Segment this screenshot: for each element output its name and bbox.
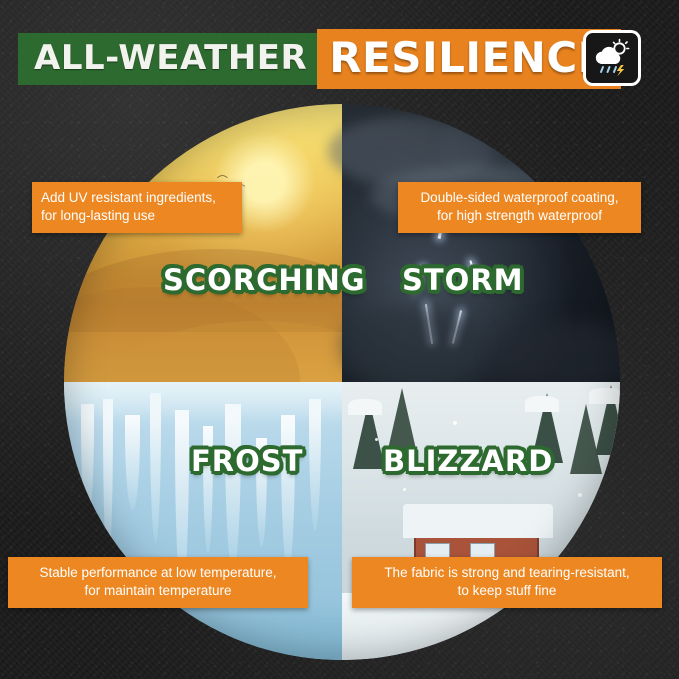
- callout-fabric: The fabric is strong and tearing-resista…: [352, 557, 662, 608]
- callout-uv-line1: Add UV resistant ingredients,: [41, 190, 216, 205]
- quadrant-storm: [342, 104, 620, 382]
- callout-fabric-line1: The fabric is strong and tearing-resista…: [384, 565, 629, 580]
- title-resilience: RESILIENCE: [317, 29, 621, 89]
- title-all-weather: ALL-WEATHER: [18, 33, 317, 85]
- header: ALL-WEATHER RESILIENCE: [18, 27, 661, 90]
- callout-stable-line2: for maintain temperature: [17, 582, 299, 600]
- callout-fabric-line2: to keep stuff fine: [361, 582, 653, 600]
- label-frost: FROST: [191, 444, 303, 478]
- callout-stable: Stable performance at low temperature, f…: [8, 557, 308, 608]
- quadrant-blizzard: [342, 382, 620, 660]
- label-storm: STORM: [402, 263, 524, 297]
- callout-waterproof: Double-sided waterproof coating, for hig…: [398, 182, 641, 233]
- label-blizzard: BLIZZARD: [383, 444, 553, 478]
- callout-waterproof-line2: for high strength waterproof: [407, 207, 632, 225]
- callout-stable-line1: Stable performance at low temperature,: [39, 565, 276, 580]
- poster-root: ALL-WEATHER RESILIENCE: [0, 0, 679, 679]
- callout-waterproof-line1: Double-sided waterproof coating,: [420, 190, 618, 205]
- callout-uv-line2: for long-lasting use: [41, 207, 233, 225]
- quadrant-frost: [64, 382, 342, 660]
- weather-badge: [583, 30, 641, 86]
- title-bar: ALL-WEATHER RESILIENCE: [18, 29, 621, 89]
- label-scorching: SCORCHING: [163, 263, 366, 297]
- callout-uv: Add UV resistant ingredients, for long-l…: [32, 182, 242, 233]
- cabin-roof: [403, 504, 553, 537]
- sun-cloud-rain-icon: [591, 38, 633, 78]
- quadrant-scorching: ︵ ︵ ︵: [64, 104, 342, 382]
